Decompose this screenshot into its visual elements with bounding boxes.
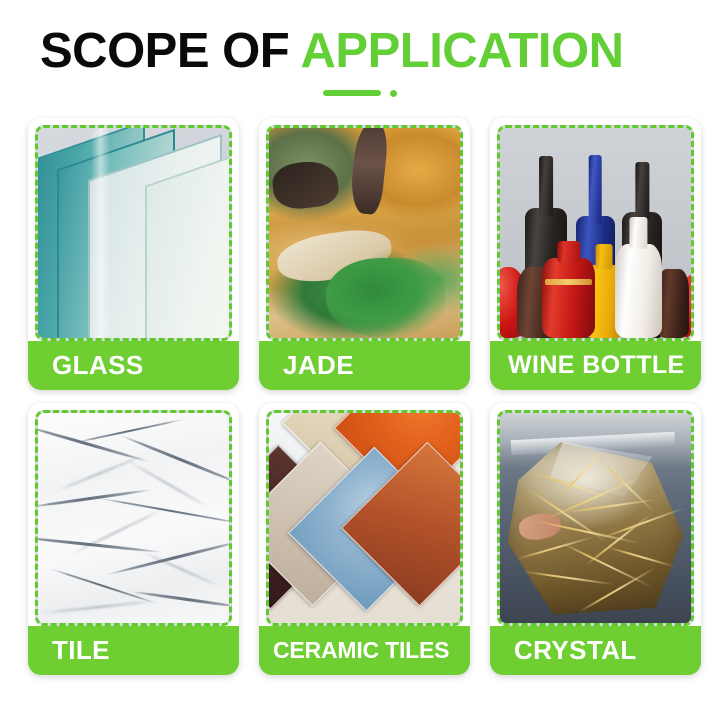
card-tile-photo (35, 410, 232, 626)
card-crystal[interactable]: CRYSTAL (490, 403, 701, 675)
card-tile-label: TILE (28, 626, 239, 675)
scope-of-application-page: SCOPE OF APPLICATION GLASS (0, 0, 720, 720)
card-ceramic-tiles-label: CERAMIC TILES (259, 626, 470, 675)
card-wine-bottle[interactable]: WINE BOTTLE (490, 118, 701, 390)
card-ceramic-tiles[interactable]: CERAMIC TILES (259, 403, 470, 675)
card-glass-label: GLASS (28, 341, 239, 390)
rutilated-quartz-image (500, 413, 691, 623)
card-glass[interactable]: GLASS (28, 118, 239, 390)
divider-dot-icon (390, 90, 397, 97)
card-wine-bottle-photo (497, 125, 694, 341)
page-header: SCOPE OF APPLICATION (0, 0, 720, 97)
glass-panes-image (38, 128, 229, 338)
divider-bar-icon (323, 90, 381, 96)
wine-bottles-image (500, 128, 691, 338)
card-ceramic-tiles-photo (266, 410, 463, 626)
card-jade-photo (266, 125, 463, 341)
marble-tile-image (38, 413, 229, 623)
application-card-grid: GLASS JADE (28, 118, 692, 675)
card-crystal-label: CRYSTAL (490, 626, 701, 675)
card-wine-bottle-label: WINE BOTTLE (490, 341, 701, 390)
title-divider (0, 90, 720, 97)
card-jade-label: JADE (259, 341, 470, 390)
card-crystal-photo (497, 410, 694, 626)
page-title-green: APPLICATION (301, 24, 624, 78)
jade-stone-image (269, 128, 460, 338)
card-jade[interactable]: JADE (259, 118, 470, 390)
card-glass-photo (35, 125, 232, 341)
ceramic-tile-samples-image (269, 413, 460, 623)
card-tile[interactable]: TILE (28, 403, 239, 675)
page-title-dark: SCOPE OF (40, 24, 289, 78)
page-title: SCOPE OF APPLICATION (0, 26, 720, 77)
